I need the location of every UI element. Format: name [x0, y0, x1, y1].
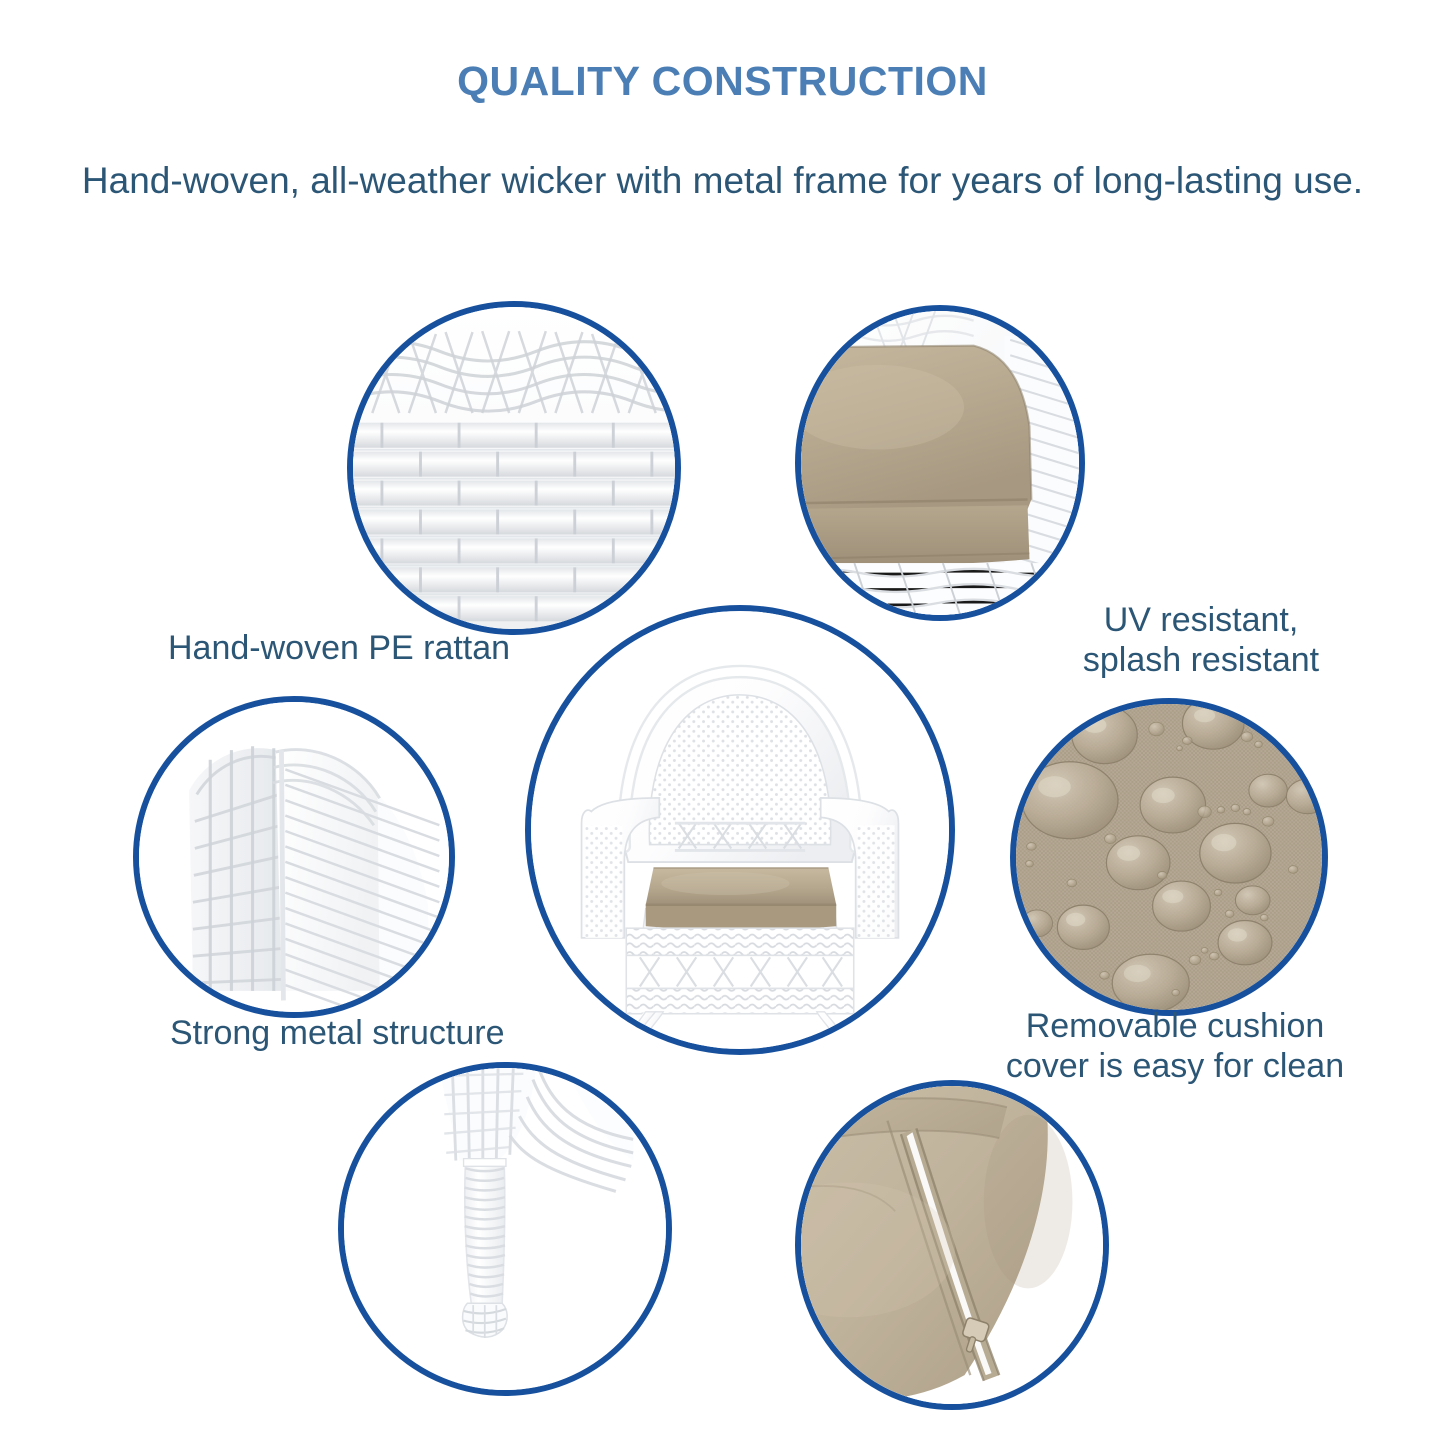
- page-title: QUALITY CONSTRUCTION: [0, 58, 1445, 105]
- chair-leg-illustration: [344, 1068, 666, 1390]
- feature-image-removable-cushion-cover: [1010, 698, 1328, 1016]
- caption-uv-splash-resistant: UV resistant, splash resistant: [1046, 600, 1356, 680]
- cushion-zipper-illustration: [801, 1086, 1103, 1404]
- infographic-page: QUALITY CONSTRUCTION Hand-woven, all-wea…: [0, 0, 1445, 1445]
- wicker-chair-illustration: [531, 611, 949, 1049]
- rattan-weave-illustration: [353, 307, 675, 629]
- feature-image-hand-woven-pe-rattan: [347, 301, 681, 635]
- water-droplets-illustration: [1016, 704, 1322, 1010]
- feature-image-cushion-zipper-detail: [795, 1080, 1109, 1410]
- feature-image-full-chair: [525, 605, 955, 1055]
- armrest-corner-illustration: [139, 702, 449, 1012]
- caption-strong-metal-structure: Strong metal structure: [170, 1013, 504, 1053]
- caption-removable-cushion-cover: Removable cushion cover is easy for clea…: [1000, 1006, 1350, 1086]
- seat-cushion-illustration: [801, 311, 1079, 615]
- feature-image-uv-splash-resistant: [795, 305, 1085, 621]
- feature-image-chair-leg-detail: [338, 1062, 672, 1396]
- feature-image-strong-metal-structure: [133, 696, 455, 1018]
- caption-hand-woven-pe-rattan: Hand-woven PE rattan: [168, 628, 510, 668]
- page-subtitle: Hand-woven, all-weather wicker with meta…: [0, 160, 1445, 202]
